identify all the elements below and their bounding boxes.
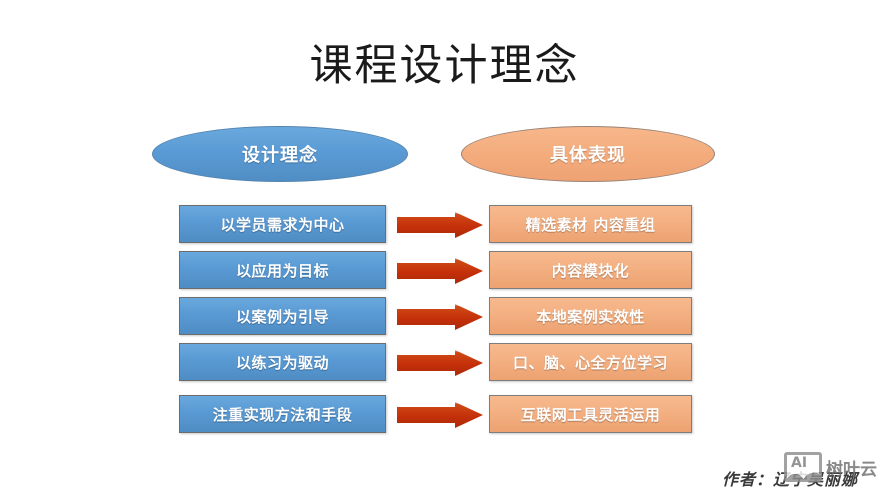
concept-bar-4-label: 以练习为驱动 xyxy=(236,352,329,373)
expression-bar-3-label: 本地案例实效性 xyxy=(536,306,645,327)
concept-bar-2-label: 以应用为目标 xyxy=(236,260,329,281)
page-title: 课程设计理念 xyxy=(0,38,889,94)
expression-bar-4-label: 口、脑、心全方位学习 xyxy=(513,352,668,373)
row-3: 以案例为引导 本地案例实效性 xyxy=(0,297,889,335)
header-ellipse-right-label: 具体表现 xyxy=(550,141,626,167)
concept-bar-1: 以学员需求为中心 xyxy=(179,205,386,243)
row-4: 以练习为驱动 口、脑、心全方位学习 xyxy=(0,343,889,381)
expression-bar-5-label: 互联网工具灵活运用 xyxy=(521,404,661,425)
expression-bar-2: 内容模块化 xyxy=(489,251,692,289)
concept-bar-4: 以练习为驱动 xyxy=(179,343,386,381)
right-arrow-icon-1 xyxy=(397,212,483,238)
expression-bar-3: 本地案例实效性 xyxy=(489,297,692,335)
expression-bar-1-label: 精选素材 内容重组 xyxy=(526,214,656,235)
watermark-label: 树叶云 xyxy=(826,455,877,480)
header-ellipse-left-label: 设计理念 xyxy=(242,141,318,167)
watermark: AI 树叶云 xyxy=(784,452,877,482)
right-arrow-icon-5 xyxy=(397,402,483,428)
concept-bar-3: 以案例为引导 xyxy=(179,297,386,335)
header-ellipse-design-concept: 设计理念 xyxy=(152,126,408,182)
row-1: 以学员需求为中心 精选素材 内容重组 xyxy=(0,205,889,243)
right-arrow-icon-2 xyxy=(397,258,483,284)
right-arrow-icon-4 xyxy=(397,350,483,376)
expression-bar-2-label: 内容模块化 xyxy=(552,260,630,281)
concept-bar-5: 注重实现方法和手段 xyxy=(179,395,386,433)
row-2: 以应用为目标 内容模块化 xyxy=(0,251,889,289)
right-arrow-icon-3 xyxy=(397,304,483,330)
expression-bar-4: 口、脑、心全方位学习 xyxy=(489,343,692,381)
slide-canvas: 课程设计理念 设计理念 具体表现 以学员需求为中心 xyxy=(0,0,889,500)
header-ellipse-concrete-expression: 具体表现 xyxy=(461,126,715,182)
concept-bar-1-label: 以学员需求为中心 xyxy=(220,214,344,235)
watermark-logo-text: AI xyxy=(791,456,807,470)
image-placeholder-icon: AI xyxy=(784,452,822,482)
concept-bar-5-label: 注重实现方法和手段 xyxy=(213,404,353,425)
row-5: 注重实现方法和手段 互联网工具灵活运用 xyxy=(0,395,889,433)
expression-bar-1: 精选素材 内容重组 xyxy=(489,205,692,243)
concept-bar-2: 以应用为目标 xyxy=(179,251,386,289)
expression-bar-5: 互联网工具灵活运用 xyxy=(489,395,692,433)
concept-bar-3-label: 以案例为引导 xyxy=(236,306,329,327)
